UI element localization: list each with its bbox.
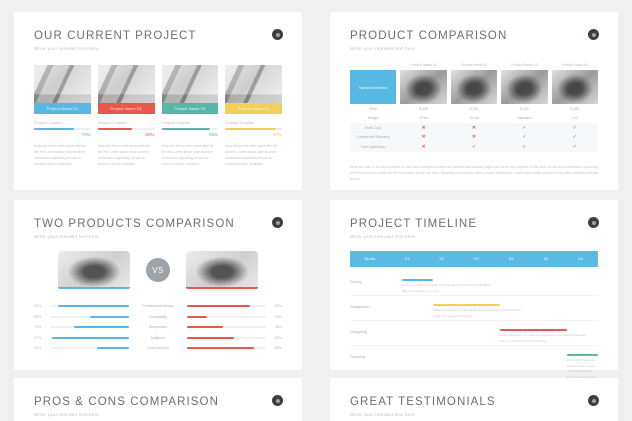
feature-value-right: 80% bbox=[266, 304, 282, 308]
timeline-task-name: Finishing bbox=[350, 346, 402, 359]
table-image-row: Specifications bbox=[350, 70, 598, 104]
progress-value: 90% bbox=[225, 132, 282, 137]
progress-value: 70% bbox=[34, 132, 91, 137]
feature-bar-right bbox=[187, 347, 266, 349]
page-subtitle: Write your relevant text here bbox=[350, 46, 598, 51]
table-cell: 120 bbox=[552, 114, 598, 124]
timeline-row: PreparationWrite text basic or simple po… bbox=[350, 296, 598, 321]
product-image-cell bbox=[552, 70, 598, 104]
progress-track bbox=[162, 128, 219, 131]
slide-product-comparison[interactable]: PRODUCT COMPARISON Write your relevant t… bbox=[330, 12, 618, 190]
table-cell: ✕ bbox=[400, 133, 446, 143]
table-cell: 70 cm bbox=[451, 114, 497, 124]
project-name-label: Project Name 03 bbox=[162, 103, 219, 114]
project-name-label: Project Name 02 bbox=[98, 103, 155, 114]
feature-bar-right bbox=[187, 305, 266, 307]
page-subtitle: Write your relevant text here bbox=[34, 46, 282, 51]
timeline-task-name: Survey bbox=[350, 271, 402, 284]
table-cell: ✓ bbox=[451, 142, 497, 152]
feature-value-left: 70% bbox=[34, 325, 50, 329]
feature-bar-right bbox=[187, 316, 266, 318]
progress-fill bbox=[98, 128, 132, 131]
project-description: Body text font or each space after all t… bbox=[34, 144, 91, 168]
table-corner bbox=[350, 63, 396, 70]
binder-clip-image bbox=[58, 251, 130, 287]
product-photo bbox=[501, 70, 547, 104]
timeline-header-period: 05 bbox=[529, 257, 564, 261]
timeline-task-name: Preparation bbox=[350, 296, 402, 309]
table-row: Weight75 cm70 cmStandard120 bbox=[350, 114, 598, 124]
product-photo bbox=[451, 70, 497, 104]
check-icon: ✓ bbox=[573, 134, 577, 140]
check-icon: ✓ bbox=[522, 125, 526, 131]
project-thumbnail bbox=[225, 65, 282, 103]
feature-bar-left-fill bbox=[74, 326, 129, 328]
slide-badge-icon bbox=[588, 395, 599, 406]
table-cell: 75 cm bbox=[400, 114, 446, 124]
slide-cell-current-project: OUR CURRENT PROJECT Write your relevant … bbox=[0, 0, 316, 190]
project-thumbnail bbox=[98, 65, 155, 103]
feature-bar-left bbox=[50, 326, 129, 328]
feature-value-right: 85% bbox=[266, 346, 282, 350]
slide-testimonials[interactable]: GREAT TESTIMONIALS Write your relevant t… bbox=[330, 378, 618, 421]
feature-bar-right-fill bbox=[187, 347, 254, 349]
progress-value: 60% bbox=[98, 132, 155, 137]
slide-cell-two-products: TWO PRODUCTS COMPARISON Write your relev… bbox=[0, 190, 316, 370]
progress-fill bbox=[34, 128, 74, 131]
project-name-label: Project Name 01 bbox=[34, 103, 91, 114]
page-subtitle: Write your relevant text here bbox=[34, 412, 282, 417]
badge-dot-icon bbox=[592, 399, 596, 403]
feature-bar-left bbox=[50, 316, 129, 318]
table-cell: ✓ bbox=[501, 142, 547, 152]
timeline-bar[interactable] bbox=[402, 279, 433, 281]
slide-cell-product-comparison: PRODUCT COMPARISON Write your relevant t… bbox=[316, 0, 632, 190]
comparison-table: Product Name 01Product Name 02Product Na… bbox=[350, 63, 598, 152]
progress-track bbox=[225, 128, 282, 131]
project-description: Body text font or each space after all t… bbox=[162, 144, 219, 168]
page-title: PROS & CONS COMPARISON bbox=[34, 396, 282, 408]
feature-label: Responsive bbox=[129, 325, 187, 329]
check-icon: ✓ bbox=[573, 144, 577, 150]
progress-fill bbox=[162, 128, 210, 131]
feature-label: Compability bbox=[129, 315, 187, 319]
timeline-row: FinishingWrite 100% focus on service poi… bbox=[350, 346, 598, 371]
timeline-description: Write your basic or simple points about … bbox=[402, 283, 492, 294]
product-accent-bar-right bbox=[186, 287, 258, 289]
table-cell: ✕ bbox=[400, 123, 446, 133]
timeline-row: SurveyWrite your basic or simple points … bbox=[350, 271, 598, 296]
table-cell: ✓ bbox=[552, 123, 598, 133]
slide-current-project[interactable]: OUR CURRENT PROJECT Write your relevant … bbox=[14, 12, 302, 190]
table-cell: ✓ bbox=[501, 133, 547, 143]
row-label: Free Light Gear bbox=[350, 142, 396, 152]
timeline-header-period: 04 bbox=[494, 257, 529, 261]
feature-row: 40%Good Support85% bbox=[34, 343, 282, 354]
table-row: Commercial Warranty✕✕✓✓ bbox=[350, 133, 598, 143]
timeline-header-period: 03 bbox=[459, 257, 494, 261]
slide-cell-testimonials: GREAT TESTIMONIALS Write your relevant t… bbox=[316, 370, 632, 421]
product-accent-bar-left bbox=[58, 287, 130, 289]
product-photo bbox=[400, 70, 446, 104]
project-thumbnail bbox=[162, 65, 219, 103]
timeline-description: Write text basic or simple points about … bbox=[433, 308, 523, 319]
feature-bar-right-fill bbox=[187, 326, 223, 328]
row-label: Price bbox=[350, 104, 396, 114]
project-card-list: Project Name 01Progress Complete70%Body … bbox=[34, 65, 282, 168]
feature-value-left: 40% bbox=[34, 346, 50, 350]
slide-badge-icon bbox=[588, 217, 599, 228]
feature-bar-left-fill bbox=[90, 316, 130, 318]
feature-row: 97%Multiuser60% bbox=[34, 333, 282, 344]
project-card[interactable]: Project Name 01Progress Complete70%Body … bbox=[34, 65, 91, 168]
timeline-row: DesigningWrite description on making pro… bbox=[350, 321, 598, 346]
product-photo bbox=[552, 70, 598, 104]
feature-row: 50%Compability25% bbox=[34, 312, 282, 323]
slides-grid: OUR CURRENT PROJECT Write your relevant … bbox=[0, 0, 632, 421]
feature-bar-left bbox=[50, 347, 129, 349]
project-description: Body text font or each space after all t… bbox=[98, 144, 155, 168]
product-card-left[interactable] bbox=[58, 251, 130, 289]
feature-value-left: 97% bbox=[34, 336, 50, 340]
feature-bar-right-fill bbox=[187, 337, 234, 339]
table-cell: $ 230 bbox=[451, 104, 497, 114]
table-cell: $ 340 bbox=[501, 104, 547, 114]
feature-bar-left-fill bbox=[58, 305, 129, 307]
project-name-label: Project Name 04 bbox=[225, 103, 282, 114]
product-image-cell bbox=[400, 70, 446, 104]
page-subtitle: Write your relevant text here bbox=[350, 412, 598, 417]
feature-bar-left-fill bbox=[52, 337, 129, 339]
slide-cell-pros-cons: PROS & CONS COMPARISON Write your releva… bbox=[0, 370, 316, 421]
feature-value-left: 50% bbox=[34, 315, 50, 319]
comparison-note: Write two lines of text about further of… bbox=[350, 164, 598, 182]
project-card[interactable]: Project Name 02Progress Complete60%Body … bbox=[98, 65, 155, 168]
cross-icon: ✕ bbox=[421, 125, 425, 131]
table-row: Price$ 120$ 230$ 340$ 450 bbox=[350, 104, 598, 114]
project-card[interactable]: Project Name 03Progress Complete85%Body … bbox=[162, 65, 219, 168]
progress-caption: Progress Complete bbox=[98, 121, 155, 125]
feature-bar-left-fill bbox=[97, 347, 129, 349]
product-column-header: Product Name 03 bbox=[501, 63, 547, 70]
slide-cell-project-timeline: PROJECT TIMELINE Write your relevant tex… bbox=[316, 190, 632, 370]
page-subtitle: Write your relevant text here bbox=[34, 234, 282, 239]
feature-label: Professional Design bbox=[129, 304, 187, 308]
product-image-cell bbox=[451, 70, 497, 104]
timeline-bar[interactable] bbox=[500, 329, 567, 331]
table-cell: $ 120 bbox=[400, 104, 446, 114]
product-column-header: Product Name 04 bbox=[552, 63, 598, 70]
table-cell: ✓ bbox=[552, 142, 598, 152]
progress-value: 85% bbox=[162, 132, 219, 137]
progress-track bbox=[34, 128, 91, 131]
check-icon: ✓ bbox=[522, 134, 526, 140]
check-icon: ✓ bbox=[573, 125, 577, 131]
table-row: Free Light Gear✕✓✓✓ bbox=[350, 142, 598, 152]
timeline-track: Write your basic or simple points about … bbox=[402, 271, 598, 295]
timeline-rows: SurveyWrite your basic or simple points … bbox=[350, 271, 598, 371]
timeline-header-period: 06 bbox=[563, 257, 598, 261]
progress-caption: Progress Complete bbox=[225, 121, 282, 125]
table-cell: ✕ bbox=[451, 133, 497, 143]
badge-dot-icon bbox=[592, 221, 596, 225]
feature-bar-right bbox=[187, 337, 266, 339]
timeline-track: Write 100% focus on service points simpl… bbox=[402, 346, 598, 371]
product-column-header: Product Name 02 bbox=[451, 63, 497, 70]
timeline-header-period: 01 bbox=[390, 257, 425, 261]
check-icon: ✓ bbox=[522, 144, 526, 150]
feature-label: Good Support bbox=[129, 346, 187, 350]
feature-row: 70%Responsive45% bbox=[34, 322, 282, 333]
timeline-bar[interactable] bbox=[433, 304, 500, 306]
versus-row: VS bbox=[34, 251, 282, 289]
feature-bar-right bbox=[187, 326, 266, 328]
progress-caption: Progress Complete bbox=[34, 121, 91, 125]
progress-track bbox=[98, 128, 155, 131]
page-title: GREAT TESTIMONIALS bbox=[350, 396, 598, 408]
timeline-header-week: Week bbox=[350, 257, 390, 261]
table-cell: ✕ bbox=[400, 142, 446, 152]
feature-bar-left bbox=[50, 305, 129, 307]
feature-bar-right-fill bbox=[187, 305, 250, 307]
badge-dot-icon bbox=[276, 33, 280, 37]
product-image-cell bbox=[501, 70, 547, 104]
page-title: TWO PRODUCTS COMPARISON bbox=[34, 218, 282, 230]
table-cell: ✕ bbox=[451, 123, 497, 133]
table-cell: $ 450 bbox=[552, 104, 598, 114]
badge-dot-icon bbox=[592, 33, 596, 37]
check-icon: ✓ bbox=[472, 144, 476, 150]
slide-badge-icon bbox=[272, 217, 283, 228]
paper-cup-image bbox=[186, 251, 258, 287]
cross-icon: ✕ bbox=[421, 134, 425, 140]
row-label: Multi Color bbox=[350, 123, 396, 133]
timeline-task-name: Designing bbox=[350, 321, 402, 334]
project-description: Body text font or each space after all t… bbox=[225, 144, 282, 168]
slide-badge-icon bbox=[588, 29, 599, 40]
timeline-track: Write text basic or simple points about … bbox=[402, 296, 598, 320]
table-cell: ✓ bbox=[501, 123, 547, 133]
badge-dot-icon bbox=[276, 221, 280, 225]
slide-pros-cons[interactable]: PROS & CONS COMPARISON Write your releva… bbox=[14, 378, 302, 421]
cross-icon: ✕ bbox=[421, 144, 425, 150]
comparison-table-body: Price$ 120$ 230$ 340$ 450Weight75 cm70 c… bbox=[350, 104, 598, 152]
table-cell: ✓ bbox=[552, 133, 598, 143]
slide-badge-icon bbox=[272, 29, 283, 40]
timeline-header: Week010203040506 bbox=[350, 251, 598, 267]
cross-icon: ✕ bbox=[472, 125, 476, 131]
table-cell: Standard bbox=[501, 114, 547, 124]
cross-icon: ✕ bbox=[472, 134, 476, 140]
timeline-header-period: 02 bbox=[425, 257, 460, 261]
feature-label: Multiuser bbox=[129, 336, 187, 340]
feature-value-right: 25% bbox=[266, 315, 282, 319]
timeline-description: Write description on making project abou… bbox=[500, 333, 590, 344]
table-header-row: Product Name 01Product Name 02Product Na… bbox=[350, 63, 598, 70]
table-row: Multi Color✕✕✓✓ bbox=[350, 123, 598, 133]
page-subtitle: Write your relevant text here bbox=[350, 234, 598, 239]
feature-value-left: 90% bbox=[34, 304, 50, 308]
slide-two-products[interactable]: TWO PRODUCTS COMPARISON Write your relev… bbox=[14, 200, 302, 370]
feature-comparison-list: 90%Professional Design80%50%Compability2… bbox=[34, 301, 282, 354]
row-label: Commercial Warranty bbox=[350, 133, 396, 143]
product-column-header: Product Name 01 bbox=[400, 63, 446, 70]
progress-fill bbox=[225, 128, 276, 131]
project-thumbnail bbox=[34, 65, 91, 103]
comparison-table-head: Product Name 01Product Name 02Product Na… bbox=[350, 63, 598, 104]
feature-value-right: 45% bbox=[266, 325, 282, 329]
badge-dot-icon bbox=[276, 399, 280, 403]
vs-badge: VS bbox=[146, 258, 170, 282]
project-card[interactable]: Project Name 04Progress Complete90%Body … bbox=[225, 65, 282, 168]
row-label: Weight bbox=[350, 114, 396, 124]
feature-value-right: 60% bbox=[266, 336, 282, 340]
feature-bar-left bbox=[50, 337, 129, 339]
timeline-bar[interactable] bbox=[567, 354, 598, 356]
slide-project-timeline[interactable]: PROJECT TIMELINE Write your relevant tex… bbox=[330, 200, 618, 370]
page-title: PRODUCT COMPARISON bbox=[350, 30, 598, 42]
timeline-track: Write description on making project abou… bbox=[402, 321, 598, 345]
page-title: PROJECT TIMELINE bbox=[350, 218, 598, 230]
progress-caption: Progress Complete bbox=[162, 121, 219, 125]
product-card-right[interactable] bbox=[186, 251, 258, 289]
slide-badge-icon bbox=[272, 395, 283, 406]
page-title: OUR CURRENT PROJECT bbox=[34, 30, 282, 42]
feature-bar-right-fill bbox=[187, 316, 207, 318]
specifications-cell: Specifications bbox=[350, 70, 396, 104]
feature-row: 90%Professional Design80% bbox=[34, 301, 282, 312]
